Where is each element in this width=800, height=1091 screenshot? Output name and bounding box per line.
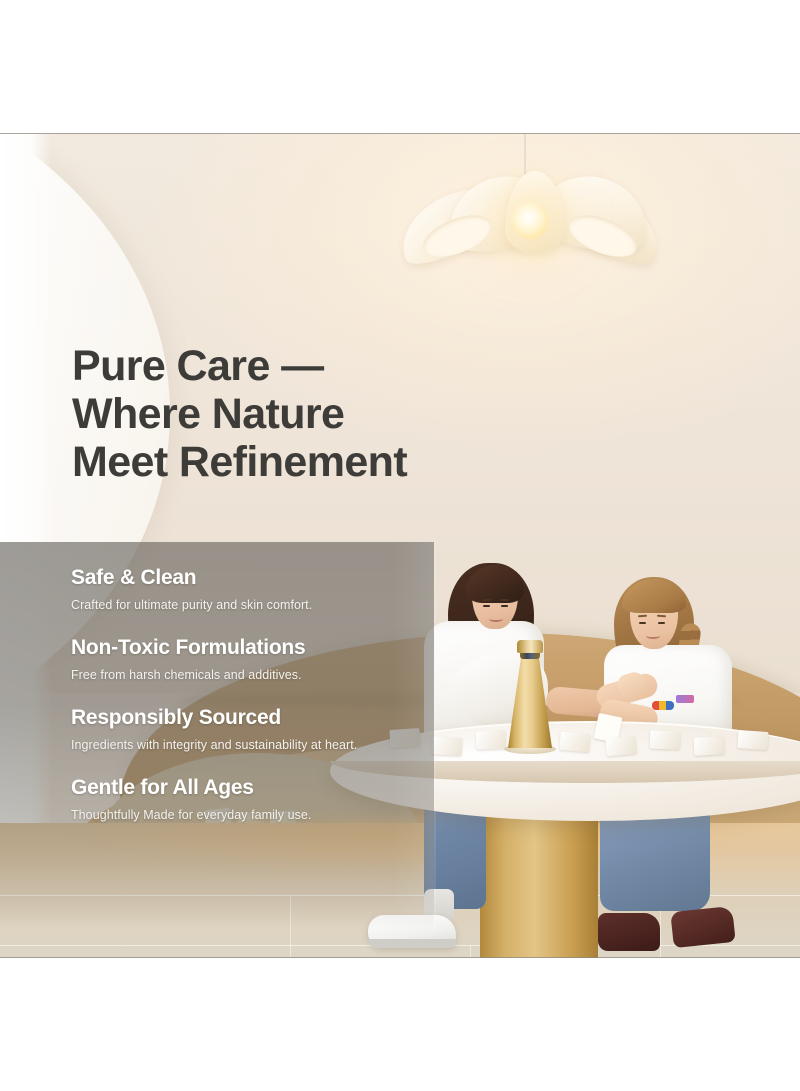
woman-smile xyxy=(489,616,503,622)
playing-card xyxy=(737,730,768,750)
page-title: Pure Care — Where Nature Meet Refinement xyxy=(72,342,532,486)
lamp-bulb xyxy=(512,203,548,239)
woman-eye xyxy=(501,605,508,607)
feature-list: Safe & Clean Crafted for ultimate purity… xyxy=(71,565,401,824)
product-cap xyxy=(517,640,543,653)
headline-line-3: Meet Refinement xyxy=(72,438,532,486)
girl-wristband xyxy=(652,701,674,710)
playing-card xyxy=(476,730,507,749)
woman-sneaker-sole xyxy=(368,939,456,948)
pendant-lamp-icon xyxy=(395,169,665,264)
playing-card xyxy=(650,730,681,749)
playing-card xyxy=(605,736,636,757)
girl-boot xyxy=(670,906,735,948)
feature-item-non-toxic: Non-Toxic Formulations Free from harsh c… xyxy=(71,635,401,684)
playing-card xyxy=(559,732,590,753)
feature-title: Responsibly Sourced xyxy=(71,705,401,731)
girl-eye xyxy=(639,622,646,624)
feature-item-safe-clean: Safe & Clean Crafted for ultimate purity… xyxy=(71,565,401,614)
feature-item-gentle-all-ages: Gentle for All Ages Thoughtfully Made fo… xyxy=(71,775,401,824)
product-body xyxy=(508,656,552,748)
feature-item-responsibly-sourced: Responsibly Sourced Ingredients with int… xyxy=(71,705,401,754)
feature-title: Non-Toxic Formulations xyxy=(71,635,401,661)
girl-eye xyxy=(658,622,665,624)
feature-title: Gentle for All Ages xyxy=(71,775,401,801)
feature-description: Thoughtfully Made for everyday family us… xyxy=(71,807,401,824)
lifestyle-photo: Pure Care — Where Nature Meet Refinement… xyxy=(0,133,800,958)
feature-title: Safe & Clean xyxy=(71,565,401,591)
woman-eye xyxy=(483,605,490,607)
headline-line-1: Pure Care — xyxy=(72,342,532,390)
girl-shirt-badge xyxy=(676,695,694,703)
feature-description: Ingredients with integrity and sustainab… xyxy=(71,737,401,754)
feature-description: Crafted for ultimate purity and skin com… xyxy=(71,597,401,614)
playing-card xyxy=(432,736,463,756)
feature-description: Free from harsh chemicals and additives. xyxy=(71,667,401,684)
photo-top-border xyxy=(0,133,800,134)
girl-smile xyxy=(646,633,660,639)
headline-line-2: Where Nature xyxy=(72,390,532,438)
gold-dispenser-product xyxy=(508,638,552,753)
girl-boot xyxy=(598,913,660,951)
playing-card xyxy=(694,736,725,756)
photo-bottom-border xyxy=(0,957,800,958)
banner-canvas: Pure Care — Where Nature Meet Refinement… xyxy=(0,0,800,1091)
